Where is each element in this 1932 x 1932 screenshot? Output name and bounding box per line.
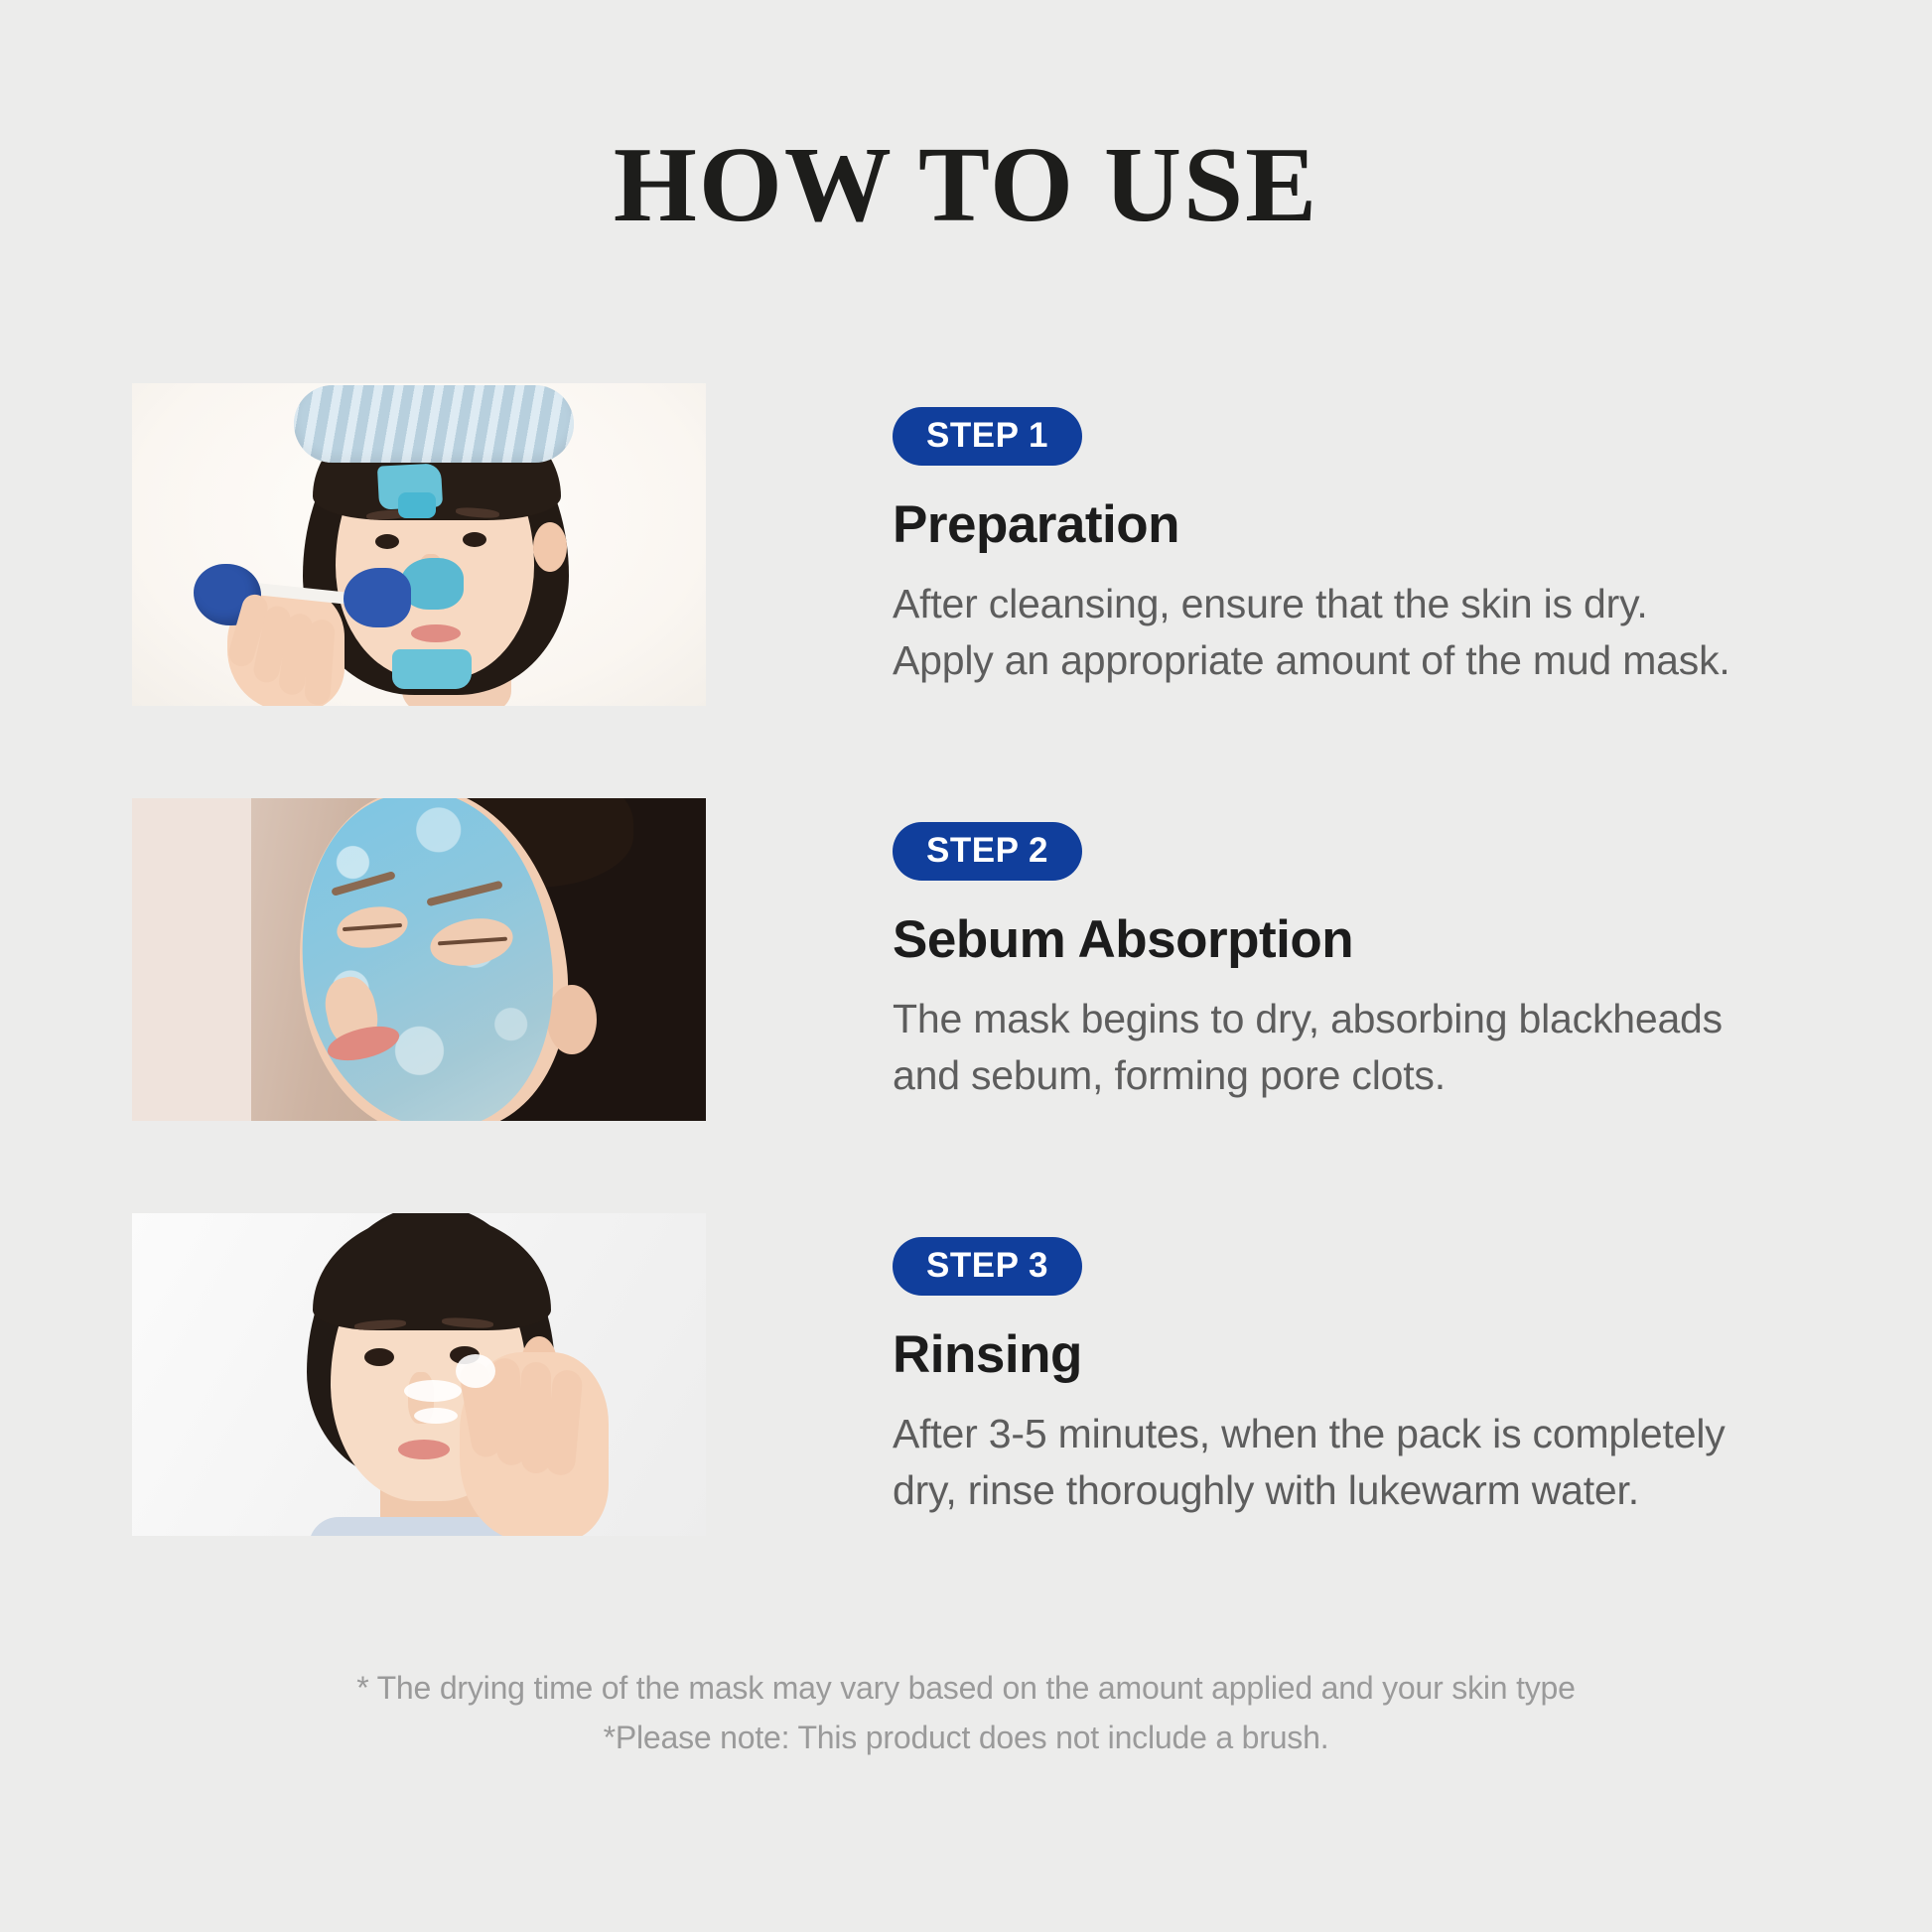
step-1-body-line-2: Apply an appropriate amount of the mud m… [893,632,1730,689]
step-2-image [132,798,706,1121]
step-2-body-line-2: and sebum, forming pore clots. [893,1047,1723,1104]
page-title: HOW TO USE [0,127,1932,245]
step-3-badge: STEP 3 [893,1237,1082,1296]
step-1-body: After cleansing, ensure that the skin is… [893,576,1730,688]
step-1-badge: STEP 1 [893,407,1082,466]
steps-list: STEP 1 Preparation After cleansing, ensu… [0,383,1932,1628]
step-3-image [132,1213,706,1536]
step-1-copy: STEP 1 Preparation After cleansing, ensu… [893,383,1730,689]
footnote-no-brush: *Please note: This product does not incl… [0,1714,1932,1763]
step-2-body: The mask begins to dry, absorbing blackh… [893,991,1723,1103]
step-2-copy: STEP 2 Sebum Absorption The mask begins … [893,798,1723,1104]
step-3-body-line-2: dry, rinse thoroughly with lukewarm wate… [893,1462,1725,1519]
step-item-3: STEP 3 Rinsing After 3-5 minutes, when t… [0,1213,1932,1536]
step-3-body-line-1: After 3-5 minutes, when the pack is comp… [893,1406,1725,1462]
footnote-drying-time: * The drying time of the mask may vary b… [0,1664,1932,1714]
step-1-body-line-1: After cleansing, ensure that the skin is… [893,576,1730,632]
step-item-2: STEP 2 Sebum Absorption The mask begins … [0,798,1932,1121]
step-item-1: STEP 1 Preparation After cleansing, ensu… [0,383,1932,706]
step-1-image [132,383,706,706]
step-3-copy: STEP 3 Rinsing After 3-5 minutes, when t… [893,1213,1725,1519]
step-2-title: Sebum Absorption [893,910,1723,969]
step-3-body: After 3-5 minutes, when the pack is comp… [893,1406,1725,1518]
how-to-use-page: HOW TO USE [0,0,1932,1932]
step-3-title: Rinsing [893,1325,1725,1384]
step-2-badge: STEP 2 [893,822,1082,881]
step-2-body-line-1: The mask begins to dry, absorbing blackh… [893,991,1723,1047]
headband-graphic [294,385,574,463]
step-1-title: Preparation [893,495,1730,554]
footnotes: * The drying time of the mask may vary b… [0,1664,1932,1762]
